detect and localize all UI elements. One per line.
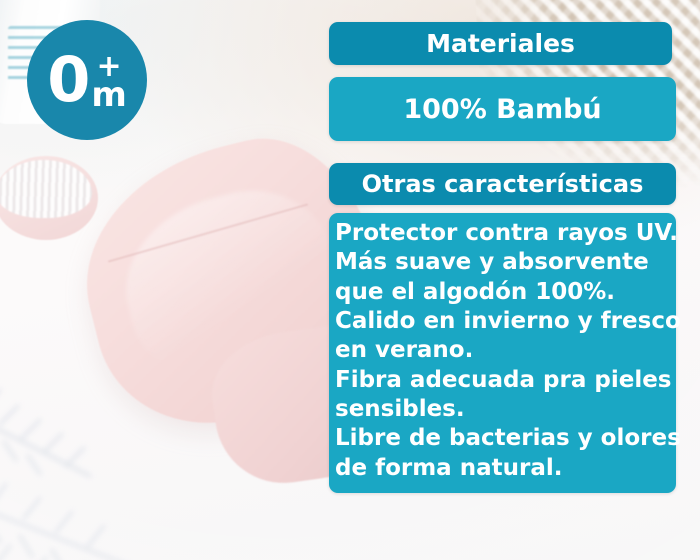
feature-line: Protector contra rayos UV. [335,219,676,248]
feature-line: Libre de bacterias y olores [335,424,676,453]
feature-line: Calido en invierno y fresco [335,307,676,336]
feature-line: de forma natural. [335,454,676,483]
age-unit-months: m [91,79,126,111]
materials-heading-label: Materiales [426,29,575,58]
materials-value-label: 100% Bambú [403,94,601,125]
age-value: 0 [47,49,89,111]
feature-line: Fibra adecuada pra pieles [335,366,676,395]
feature-line: sensibles. [335,395,676,424]
materials-value-band: 100% Bambú [329,77,676,141]
age-badge-content: 0 + m [47,49,127,111]
age-badge: 0 + m [27,20,147,140]
age-suffix-group: + m [91,53,126,111]
materials-heading-band: Materiales [329,22,672,65]
feature-line: que el algodón 100%. [335,278,676,307]
features-heading-band: Otras características [329,163,676,205]
product-info-graphic: 0 + m Materiales 100% Bambú Otras caract… [0,0,700,560]
info-panel: Materiales 100% Bambú Otras característi… [329,22,676,493]
features-heading-label: Otras características [362,170,644,198]
feature-line: en verano. [335,336,676,365]
features-text-block: Protector contra rayos UV.Más suave y ab… [329,213,676,493]
feature-line: Más suave y absorvente [335,248,676,277]
